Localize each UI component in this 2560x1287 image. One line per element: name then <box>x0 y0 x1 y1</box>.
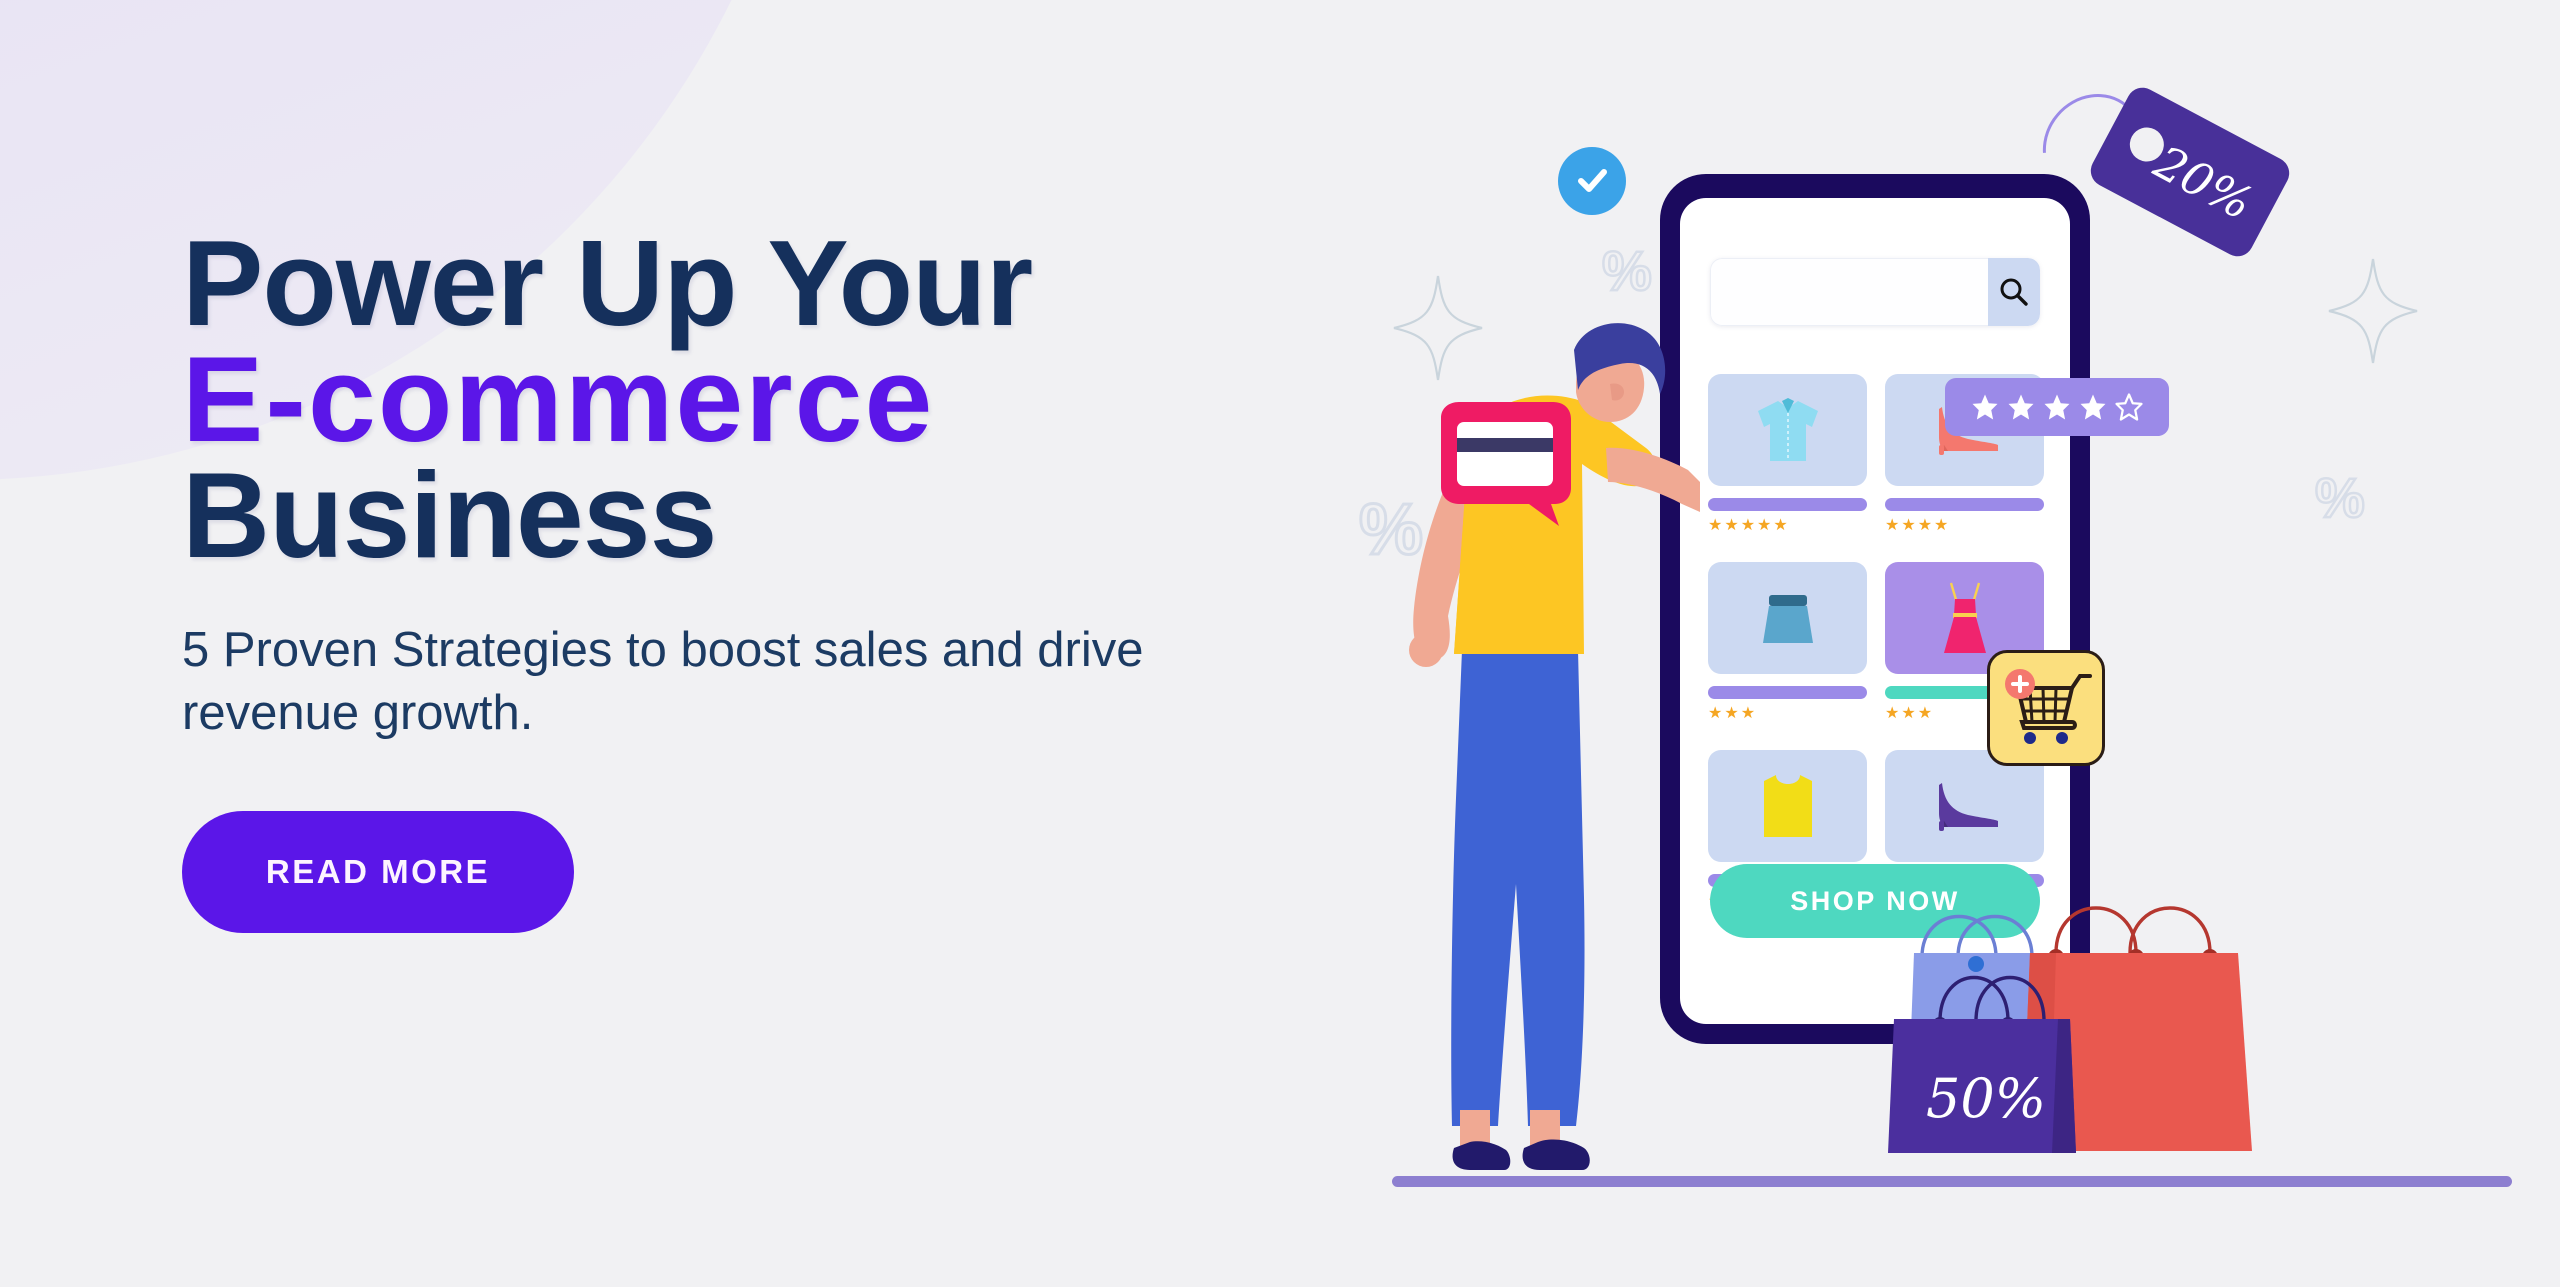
product-rating: ★★★★ <box>1885 518 2044 534</box>
tank-top-icon <box>1758 769 1818 843</box>
product-price-bar <box>1708 686 1867 699</box>
rating-badge <box>1945 378 2169 436</box>
percent-outline-icon-top: % <box>1602 243 1652 299</box>
ecommerce-promo-banner: Power Up Your E-commerce Business 5 Prov… <box>0 0 2560 1287</box>
product-rating: ★★★★★ <box>1708 518 1867 534</box>
product-thumbnail <box>1708 374 1867 486</box>
check-icon <box>1572 161 1612 201</box>
headline-line-1: Power Up Your <box>182 225 1312 341</box>
product-card[interactable]: ★★★ <box>1708 562 1867 722</box>
product-thumbnail <box>1708 750 1867 862</box>
page-title: Power Up Your E-commerce Business <box>182 225 1312 573</box>
product-grid: ★★★★★ ★★★★ <box>1708 374 2044 910</box>
add-to-cart-icon <box>2000 666 2092 750</box>
search-icon <box>1998 276 2030 308</box>
star-filled-icon <box>2042 392 2072 422</box>
skirt-icon <box>1753 587 1823 649</box>
percent-outline-icon-right: % <box>2315 470 2365 526</box>
sparkle-outline-icon-right <box>2325 255 2421 367</box>
star-filled-icon <box>2006 392 2036 422</box>
hero-text-column: Power Up Your E-commerce Business 5 Prov… <box>182 225 1312 933</box>
search-bar <box>1710 258 2040 326</box>
headline-line-2-accent: E-commerce <box>182 341 1312 457</box>
product-card[interactable]: ★★★★★ <box>1708 374 1867 534</box>
shirt-icon <box>1752 393 1824 467</box>
read-more-button[interactable]: READ MORE <box>182 811 574 933</box>
star-filled-icon <box>2078 392 2108 422</box>
product-price-bar <box>1708 498 1867 511</box>
search-button[interactable] <box>1988 258 2040 326</box>
product-rating: ★★★ <box>1708 706 1867 722</box>
illustration-area: % % % <box>1340 0 2560 1287</box>
product-thumbnail <box>1708 562 1867 674</box>
payment-card-bubble <box>1433 400 1578 535</box>
product-thumbnail <box>1885 750 2044 862</box>
bag-discount-value: 50% <box>1926 1067 2046 1130</box>
star-outline-icon <box>2114 392 2144 422</box>
verified-badge <box>1558 147 1626 215</box>
search-input[interactable] <box>1710 258 1988 326</box>
star-filled-icon <box>1970 392 2000 422</box>
add-to-cart-badge[interactable] <box>1987 650 2105 766</box>
headline-line-3: Business <box>182 457 1312 573</box>
product-price-bar <box>1885 498 2044 511</box>
shopping-bags: 50% <box>1880 861 2320 1191</box>
dress-icon <box>1935 577 1995 659</box>
high-heel-icon <box>1926 777 2004 835</box>
hero-subtitle: 5 Proven Strategies to boost sales and d… <box>182 619 1292 745</box>
